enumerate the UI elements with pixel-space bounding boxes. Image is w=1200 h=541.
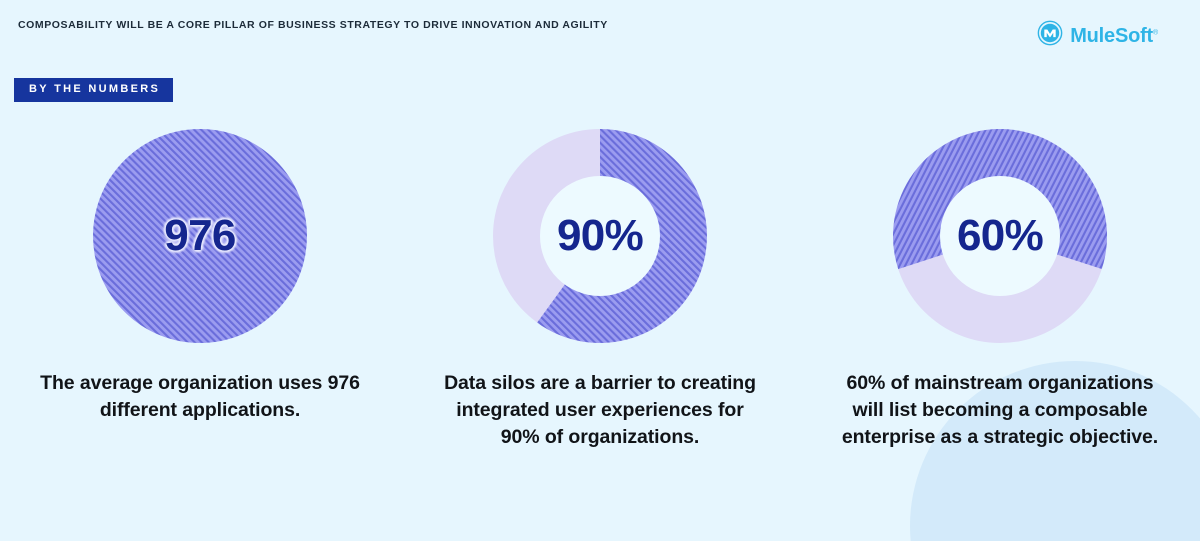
pie-slice-applications — [93, 129, 307, 343]
donut-hole-composable-enterprise — [940, 176, 1060, 296]
mulesoft-wordmark: MuleSoft® — [1070, 26, 1158, 46]
chart-applications-svg — [92, 128, 308, 344]
statistics-row: 976 The average organization uses 976 di… — [0, 128, 1200, 451]
chart-data-silos-svg — [492, 128, 708, 344]
stat-caption-applications: The average organization uses 976 differ… — [35, 370, 365, 424]
mulesoft-mark-icon — [1037, 20, 1063, 51]
donut-hole-data-silos — [540, 176, 660, 296]
chart-data-silos: 90% — [492, 128, 708, 344]
page-eyebrow-title: COMPOSABILITY WILL BE A CORE PILLAR OF B… — [18, 19, 608, 31]
status-badge: BY THE NUMBERS — [14, 78, 173, 102]
chart-composable-enterprise: 60% — [892, 128, 1108, 344]
chart-composable-enterprise-svg — [892, 128, 1108, 344]
stat-item-data-silos: 90% Data silos are a barrier to creating… — [400, 128, 800, 451]
mulesoft-wordmark-text: MuleSoft — [1070, 25, 1153, 47]
stat-caption-data-silos: Data silos are a barrier to creating int… — [435, 370, 765, 451]
trademark-symbol: ® — [1153, 29, 1158, 36]
stat-item-composable-enterprise: 60% 60% of mainstream organizations will… — [800, 128, 1200, 451]
stat-item-applications: 976 The average organization uses 976 di… — [0, 128, 400, 451]
mulesoft-logo: MuleSoft® — [1037, 20, 1158, 51]
chart-applications: 976 — [92, 128, 308, 344]
stat-caption-composable-enterprise: 60% of mainstream organizations will lis… — [835, 370, 1165, 451]
